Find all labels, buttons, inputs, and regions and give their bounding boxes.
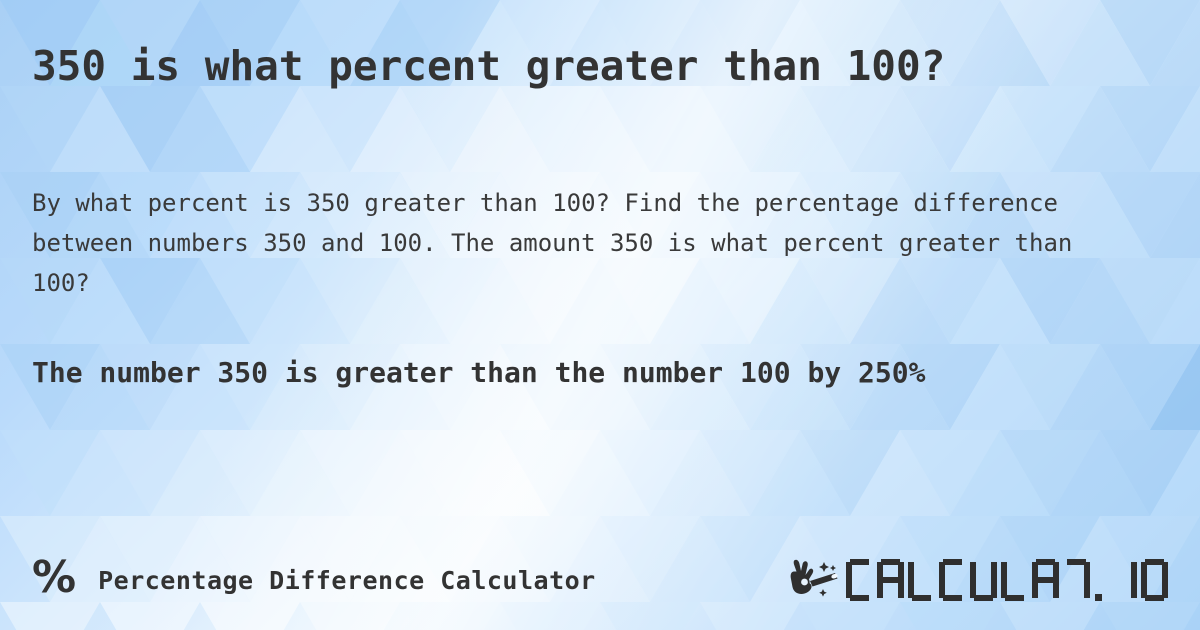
hand-magic-wand-icon [790,556,842,604]
logo-dot [1094,559,1106,601]
calculator-name-label: Percentage Difference Calculator [98,566,596,595]
logo-letter-c2 [939,559,966,601]
footer: % Percentage Difference Calculator [32,548,1168,612]
footer-brand: % Percentage Difference Calculator [32,558,596,602]
calculatio-logo[interactable] [790,556,1168,604]
logo-letter-o [1141,559,1168,601]
logo-letter-l [908,559,935,601]
result-statement: The number 350 is greater than the numbe… [32,352,1142,394]
logo-letter-c [846,559,873,601]
logo-letter-a2 [1032,559,1059,601]
page-root: 350 is what percent greater than 100? By… [0,0,1200,630]
logo-letter-a [877,559,904,601]
logo-wordmark [846,559,1168,601]
percent-icon: % [32,556,76,600]
question-description: By what percent is 350 greater than 100?… [32,183,1102,303]
logo-letter-l2 [1001,559,1028,601]
page-title: 350 is what percent greater than 100? [32,44,945,89]
logo-letter-t [1063,559,1090,601]
logo-letter-i [1110,559,1137,601]
content-container: 350 is what percent greater than 100? By… [0,0,1200,630]
logo-letter-u [970,559,997,601]
